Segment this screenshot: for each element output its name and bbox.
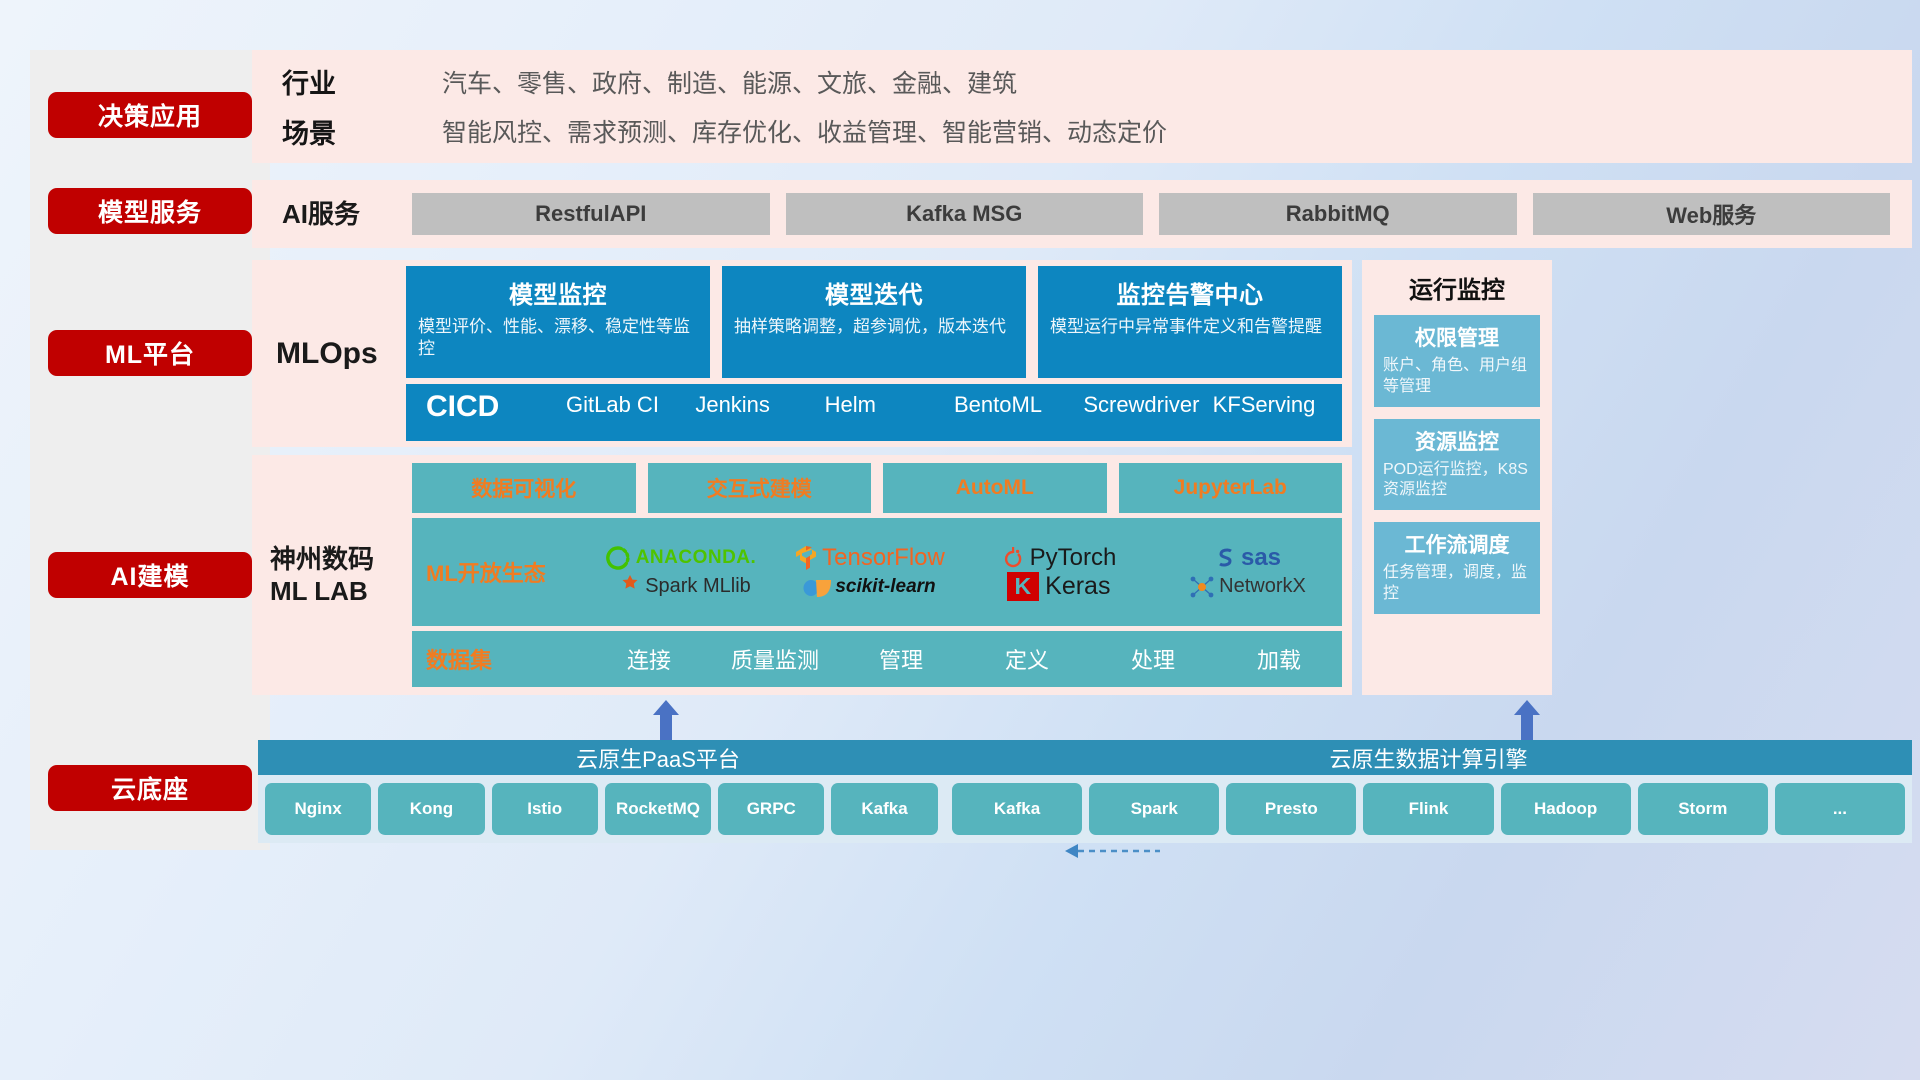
cloud-chip-nginx[interactable]: Nginx bbox=[265, 783, 371, 835]
ml-lab-tab-automl[interactable]: AutoML bbox=[883, 463, 1107, 513]
scikit-icon bbox=[803, 573, 833, 601]
layer-chip-ai-modeling[interactable]: AI建模 bbox=[48, 552, 252, 598]
monitor-card-permission[interactable]: 权限管理 账户、角色、用户组等管理 bbox=[1374, 315, 1540, 407]
tensorflow-logo: TensorFlow bbox=[794, 544, 945, 572]
cloud-chip-kafka[interactable]: Kafka bbox=[831, 783, 937, 835]
cloud-chip-grpc[interactable]: GRPC bbox=[718, 783, 824, 835]
sas-icon bbox=[1214, 547, 1238, 569]
mlops-card-list: 模型监控 模型评价、性能、漂移、稳定性等监控 模型迭代 抽样策略调整，超参调优，… bbox=[406, 266, 1342, 378]
cloud-engine-title: 云原生数据计算引擎 bbox=[945, 740, 1912, 775]
mlops-card-desc: 模型评价、性能、漂移、稳定性等监控 bbox=[418, 316, 698, 361]
ml-lab-label: 神州数码 ML LAB bbox=[270, 543, 412, 608]
ai-service-band: AI服务 RestfulAPI Kafka MSG RabbitMQ Web服务 bbox=[252, 180, 1912, 248]
layer-chip-label: 云底座 bbox=[111, 770, 189, 806]
monitor-card-workflow[interactable]: 工作流调度 任务管理，调度，监控 bbox=[1374, 522, 1540, 614]
cloud-engine-group: 云原生数据计算引擎 Kafka Spark Presto Flink Hadoo… bbox=[945, 740, 1912, 843]
ml-lab-tab-interactive-modeling[interactable]: 交互式建模 bbox=[648, 463, 872, 513]
keras-label: Keras bbox=[1045, 572, 1110, 601]
ml-lab-label-line2: ML LAB bbox=[270, 575, 412, 608]
sas-logo: sas bbox=[1214, 544, 1281, 572]
mlops-card-title: 模型监控 bbox=[418, 275, 698, 310]
mlops-label: MLOps bbox=[276, 335, 406, 373]
dataset-label: 数据集 bbox=[426, 643, 586, 675]
dataset-item-connect[interactable]: 连接 bbox=[586, 643, 712, 675]
runtime-monitor-title: 运行监控 bbox=[1374, 270, 1540, 305]
spark-mllib-label: Spark MLlib bbox=[645, 575, 751, 598]
ml-lab-tab-data-visualization[interactable]: 数据可视化 bbox=[412, 463, 636, 513]
mlops-card-model-monitoring[interactable]: 模型监控 模型评价、性能、漂移、稳定性等监控 bbox=[406, 266, 710, 378]
ai-service-chip-rabbitmq[interactable]: RabbitMQ bbox=[1159, 193, 1517, 235]
ml-ecosystem-logo-grid: ANACONDA. TensorFlow bbox=[586, 543, 1342, 601]
sas-label: sas bbox=[1241, 544, 1281, 572]
layer-chip-model-service[interactable]: 模型服务 bbox=[48, 188, 252, 234]
dataset-row: 数据集 连接 质量监测 管理 定义 处理 加载 bbox=[412, 631, 1342, 687]
cicd-tool-gitlab-ci[interactable]: GitLab CI bbox=[566, 392, 695, 417]
monitor-card-desc: 任务管理，调度，监控 bbox=[1383, 563, 1531, 605]
mlops-band: MLOps 模型监控 模型评价、性能、漂移、稳定性等监控 模型迭代 抽样策略调整… bbox=[252, 260, 1352, 447]
layer-chip-label: 模型服务 bbox=[98, 193, 202, 229]
ml-ecosystem-label: ML开放生态 bbox=[426, 556, 586, 588]
mlops-card-desc: 抽样策略调整，超参调优，版本迭代 bbox=[734, 316, 1014, 338]
dataset-item-load[interactable]: 加载 bbox=[1216, 643, 1342, 675]
layer-rail: 决策应用 模型服务 ML平台 AI建模 云底座 bbox=[30, 50, 270, 850]
networkx-icon bbox=[1189, 574, 1215, 600]
arrow-up-engine bbox=[1510, 700, 1544, 736]
spark-icon bbox=[610, 574, 640, 600]
cicd-bar: CICD GitLab CI Jenkins Helm BentoML Scre… bbox=[406, 384, 1342, 441]
spark-mllib-logo: Spark MLlib bbox=[610, 574, 751, 600]
engine-chip-spark[interactable]: Spark bbox=[1089, 783, 1219, 835]
layer-chip-cloud-base[interactable]: 云底座 bbox=[48, 765, 252, 811]
pytorch-icon bbox=[1001, 545, 1025, 571]
cloud-engine-chip-list: Kafka Spark Presto Flink Hadoop Storm ..… bbox=[945, 775, 1912, 843]
ml-lab-label-line1: 神州数码 bbox=[270, 543, 412, 576]
pytorch-logo: PyTorch bbox=[1001, 544, 1117, 572]
ml-lab-tab-list: 数据可视化 交互式建模 AutoML JupyterLab bbox=[412, 463, 1342, 513]
cloud-chip-rocketmq[interactable]: RocketMQ bbox=[605, 783, 711, 835]
monitor-card-title: 权限管理 bbox=[1383, 322, 1531, 352]
scikit-learn-logo: scikit-learn bbox=[803, 573, 935, 601]
networkx-label: NetworkX bbox=[1219, 575, 1306, 598]
anaconda-icon bbox=[605, 545, 631, 571]
engine-chip-presto[interactable]: Presto bbox=[1226, 783, 1356, 835]
arrow-up-paas bbox=[649, 700, 683, 736]
cicd-tool-screwdriver[interactable]: Screwdriver bbox=[1083, 392, 1212, 417]
monitor-card-desc: 账户、角色、用户组等管理 bbox=[1383, 356, 1531, 398]
ai-service-chip-web[interactable]: Web服务 bbox=[1533, 193, 1891, 235]
keras-icon: K bbox=[1007, 572, 1040, 601]
monitor-card-title: 工作流调度 bbox=[1383, 529, 1531, 559]
dataset-item-manage[interactable]: 管理 bbox=[838, 643, 964, 675]
monitor-card-resource[interactable]: 资源监控 POD运行监控，K8S资源监控 bbox=[1374, 419, 1540, 511]
layer-chip-label: 决策应用 bbox=[98, 97, 202, 133]
mlops-card-model-iteration[interactable]: 模型迭代 抽样策略调整，超参调优，版本迭代 bbox=[722, 266, 1026, 378]
layer-chip-ml-platform[interactable]: ML平台 bbox=[48, 330, 252, 376]
networkx-logo: NetworkX bbox=[1189, 574, 1306, 600]
mlops-card-title: 监控告警中心 bbox=[1050, 275, 1330, 310]
monitor-card-title: 资源监控 bbox=[1383, 426, 1531, 456]
dataset-item-quality[interactable]: 质量监测 bbox=[712, 643, 838, 675]
layer-chip-label: AI建模 bbox=[110, 557, 189, 593]
engine-chip-flink[interactable]: Flink bbox=[1363, 783, 1493, 835]
scikit-learn-label: scikit-learn bbox=[835, 576, 935, 598]
dataset-item-list: 连接 质量监测 管理 定义 处理 加载 bbox=[586, 643, 1342, 675]
arrow-left-dashed bbox=[1062, 843, 1160, 864]
scenario-list: 智能风控、需求预测、库存优化、收益管理、智能营销、动态定价 bbox=[442, 113, 1912, 149]
mlops-card-desc: 模型运行中异常事件定义和告警提醒 bbox=[1050, 316, 1330, 338]
cicd-tool-list: GitLab CI Jenkins Helm BentoML Screwdriv… bbox=[566, 392, 1342, 417]
cloud-paas-group: 云原生PaaS平台 Nginx Kong Istio RocketMQ GRPC… bbox=[258, 740, 1058, 843]
mlops-card-title: 模型迭代 bbox=[734, 275, 1014, 310]
cloud-paas-chip-list: Nginx Kong Istio RocketMQ GRPC Kafka ... bbox=[258, 775, 1058, 843]
scenario-key: 场景 bbox=[282, 112, 442, 151]
dataset-item-define[interactable]: 定义 bbox=[964, 643, 1090, 675]
cloud-paas-title: 云原生PaaS平台 bbox=[258, 740, 1058, 775]
engine-chip-more[interactable]: ... bbox=[1775, 783, 1905, 835]
layer-chip-label: ML平台 bbox=[105, 335, 195, 371]
cicd-tool-bentoml[interactable]: BentoML bbox=[954, 392, 1083, 417]
anaconda-label: ANACONDA. bbox=[636, 547, 757, 569]
anaconda-logo: ANACONDA. bbox=[605, 545, 757, 571]
tensorflow-icon bbox=[794, 545, 818, 571]
industry-list: 汽车、零售、政府、制造、能源、文旅、金融、建筑 bbox=[442, 64, 1912, 100]
ai-service-chip-list: RestfulAPI Kafka MSG RabbitMQ Web服务 bbox=[412, 193, 1890, 235]
cloud-chip-istio[interactable]: Istio bbox=[492, 783, 598, 835]
engine-chip-kafka[interactable]: Kafka bbox=[952, 783, 1082, 835]
cicd-tool-kfserving[interactable]: KFServing bbox=[1213, 392, 1342, 417]
ai-service-chip-kafka-msg[interactable]: Kafka MSG bbox=[786, 193, 1144, 235]
ml-ecosystem-row: ML开放生态 ANACONDA. TensorFlow bbox=[412, 518, 1342, 626]
cicd-tool-helm[interactable]: Helm bbox=[825, 392, 954, 417]
cicd-tool-jenkins[interactable]: Jenkins bbox=[695, 392, 824, 417]
tensorflow-label: TensorFlow bbox=[822, 544, 945, 572]
layer-chip-decision-app[interactable]: 决策应用 bbox=[48, 92, 252, 138]
pytorch-label: PyTorch bbox=[1030, 544, 1117, 572]
keras-logo: K Keras bbox=[1007, 572, 1111, 601]
monitor-card-desc: POD运行监控，K8S资源监控 bbox=[1383, 460, 1531, 502]
ai-service-chip-restfulapi[interactable]: RestfulAPI bbox=[412, 193, 770, 235]
engine-chip-storm[interactable]: Storm bbox=[1638, 783, 1768, 835]
ai-service-label: AI服务 bbox=[282, 198, 412, 231]
ml-lab-tab-jupyterlab[interactable]: JupyterLab bbox=[1119, 463, 1343, 513]
industry-scenario-band: 行业 汽车、零售、政府、制造、能源、文旅、金融、建筑 场景 智能风控、需求预测、… bbox=[252, 50, 1912, 163]
mlops-card-alert-center[interactable]: 监控告警中心 模型运行中异常事件定义和告警提醒 bbox=[1038, 266, 1342, 378]
cicd-label: CICD bbox=[426, 392, 566, 422]
runtime-monitor-panel: 运行监控 权限管理 账户、角色、用户组等管理 资源监控 POD运行监控，K8S资… bbox=[1362, 260, 1552, 695]
dataset-item-process[interactable]: 处理 bbox=[1090, 643, 1216, 675]
industry-key: 行业 bbox=[282, 62, 442, 101]
cloud-chip-kong[interactable]: Kong bbox=[378, 783, 484, 835]
ml-lab-band: 神州数码 ML LAB 数据可视化 交互式建模 AutoML JupyterLa… bbox=[252, 455, 1352, 695]
engine-chip-hadoop[interactable]: Hadoop bbox=[1501, 783, 1631, 835]
